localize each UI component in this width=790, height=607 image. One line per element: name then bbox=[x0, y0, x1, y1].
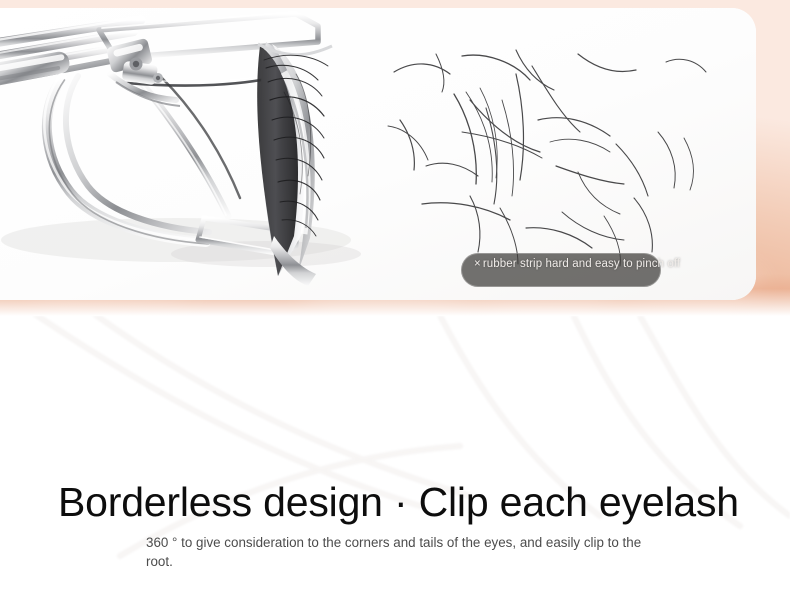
scattered-eyelashes-illustration bbox=[366, 48, 726, 278]
tooltip-label: rubber strip hard and easy to pinch off bbox=[483, 258, 680, 270]
rubber-strip-warning-text: ×rubber strip hard and easy to pinch off bbox=[474, 257, 684, 272]
page-title: Borderless design · Clip each eyelash bbox=[58, 477, 758, 527]
cross-icon: × bbox=[474, 258, 481, 270]
page-subtitle: 360 ° to give consideration to the corne… bbox=[146, 534, 666, 571]
product-hero-banner: ×rubber strip hard and easy to pinch off bbox=[0, 0, 790, 316]
